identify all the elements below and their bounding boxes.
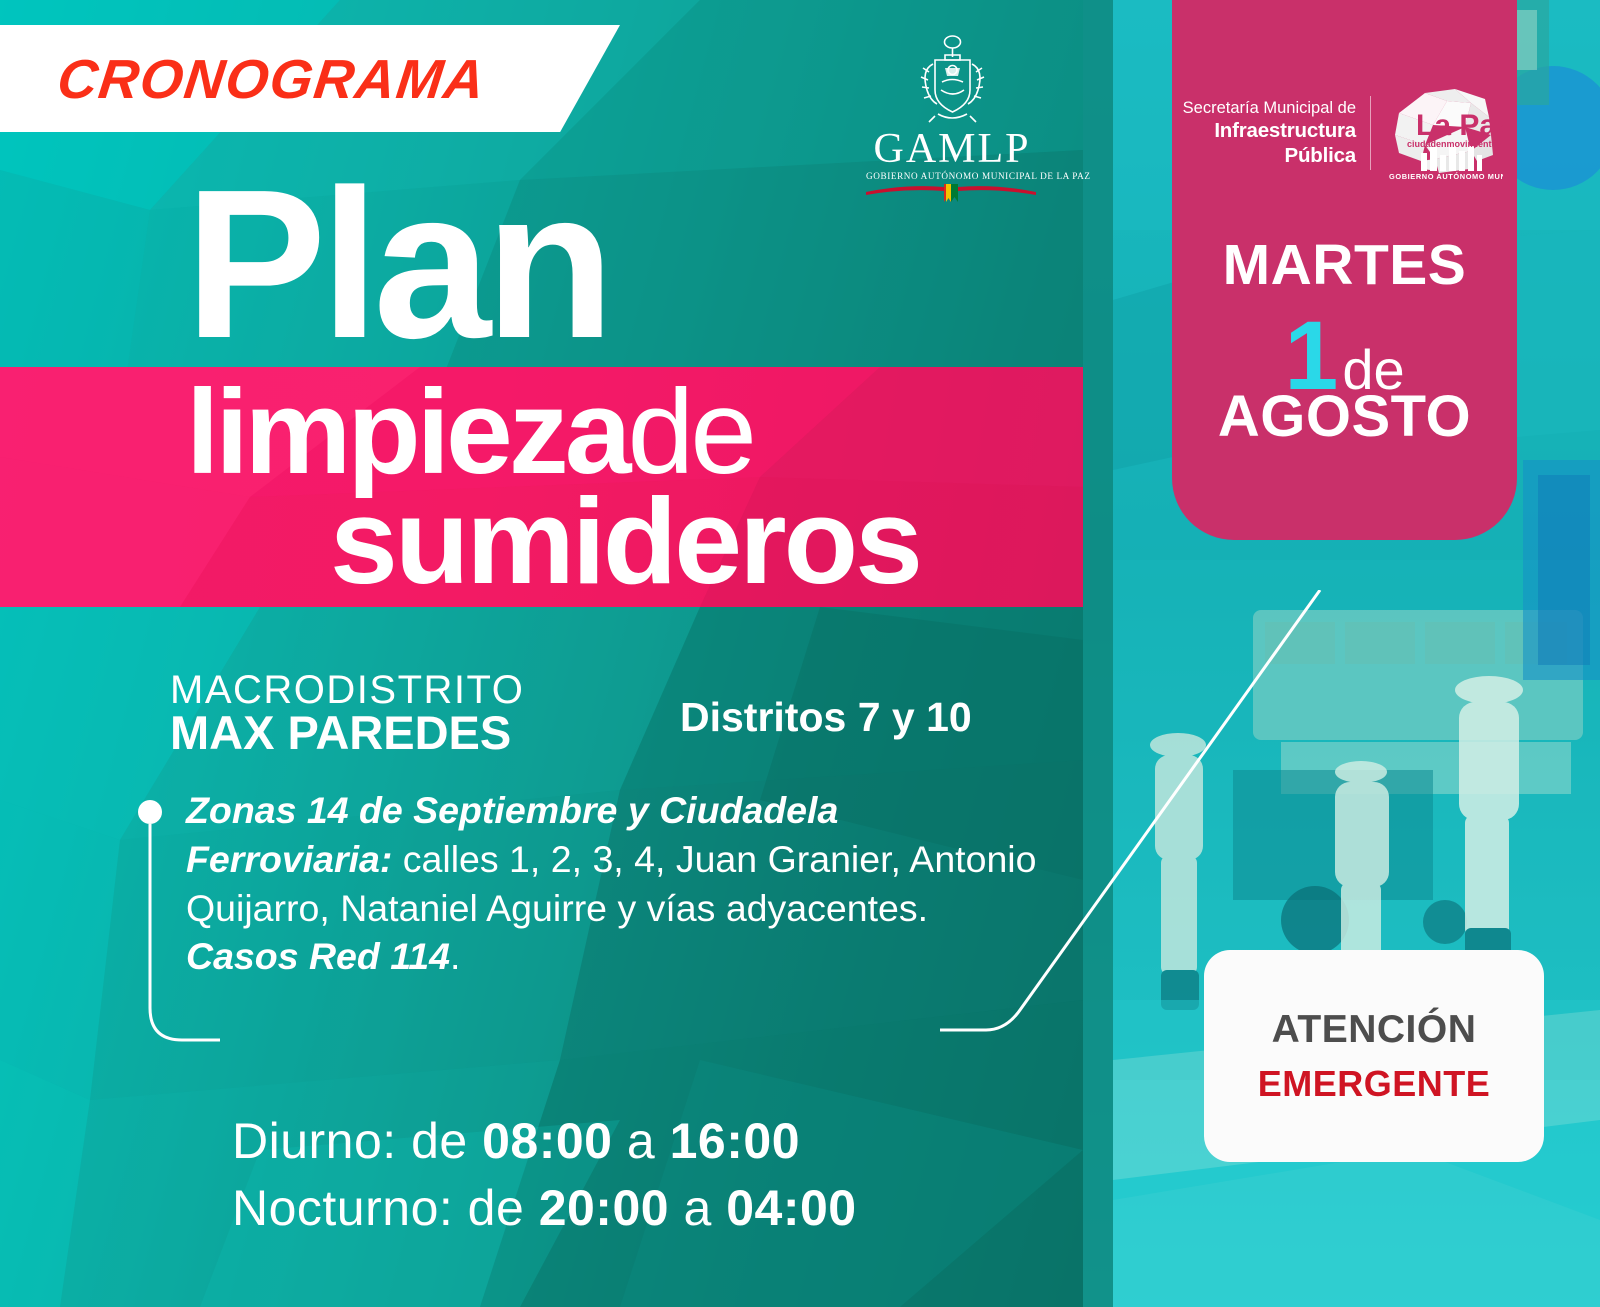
cronograma-banner: CRONOGRAMA [0, 25, 620, 132]
poster-root: CRONOGRAMA GAMLP GOBIERNO AUTÓNOMO [0, 0, 1600, 1307]
atencion-emergente-card: ATENCIÓN EMERGENTE [1204, 950, 1544, 1162]
day-end-time: 16:00 [670, 1113, 800, 1169]
day-start-time: 08:00 [482, 1113, 612, 1169]
title-line-plan: Plan [185, 171, 609, 358]
lapaz-tagline: ciudadenmovimiento [1407, 139, 1498, 149]
lapaz-footer: GOBIERNO AUTÓNOMO MUNICIPAL [1389, 172, 1503, 181]
emergente-label: EMERGENTE [1258, 1063, 1491, 1105]
lapaz-brand-icon: La Paz ciudadenmovimiento GOBIERNO AUTÓN… [1385, 83, 1503, 183]
night-end-time: 04:00 [726, 1180, 856, 1236]
night-separator: a [683, 1180, 711, 1236]
schedule-day-row: Diurno: de 08:00 a 16:00 [232, 1108, 857, 1175]
weekday-label: MARTES [1172, 232, 1517, 298]
macrodistrict-name: MAX PAREDES [170, 705, 511, 760]
logo-divider [1370, 96, 1371, 170]
districts-label: Distritos 7 y 10 [680, 694, 972, 741]
gamlp-wordmark: GAMLP [866, 128, 1038, 170]
detail-text: Zonas 14 de Septiembre y Ciudadela Ferro… [186, 786, 1046, 981]
atencion-label: ATENCIÓN [1272, 1008, 1477, 1052]
day-label: Diurno: de [232, 1113, 468, 1169]
secretaria-text: Secretaría Municipal de Infraestructura … [1180, 98, 1356, 168]
gamlp-subtitle: GOBIERNO AUTÓNOMO MUNICIPAL DE LA PAZ [866, 171, 1038, 181]
night-label: Nocturno: de [232, 1180, 524, 1236]
schedule-block: Diurno: de 08:00 a 16:00 Nocturno: de 20… [232, 1108, 857, 1241]
cases-tail-text: . [450, 935, 460, 977]
tricolor-ribbon-icon [866, 182, 1036, 204]
month-label: AGOSTO [1172, 383, 1517, 450]
lapaz-wordmark: La Paz [1416, 109, 1503, 142]
secretaria-line2: Infraestructura Pública [1180, 118, 1356, 168]
coat-of-arms-icon [905, 28, 1000, 130]
schedule-night-row: Nocturno: de 20:00 a 04:00 [232, 1175, 857, 1242]
night-start-time: 20:00 [539, 1180, 669, 1236]
title-line-sumideros: sumideros [330, 480, 920, 602]
secretaria-line1: Secretaría Municipal de [1183, 99, 1356, 117]
cronograma-label: CRONOGRAMA [54, 47, 489, 111]
day-separator: a [627, 1113, 655, 1169]
gamlp-logo: GAMLP GOBIERNO AUTÓNOMO MUNICIPAL DE LA … [866, 28, 1038, 204]
cases-bold-text: Casos Red 114 [186, 935, 450, 977]
secretaria-logo: Secretaría Municipal de Infraestructura … [1180, 78, 1510, 188]
